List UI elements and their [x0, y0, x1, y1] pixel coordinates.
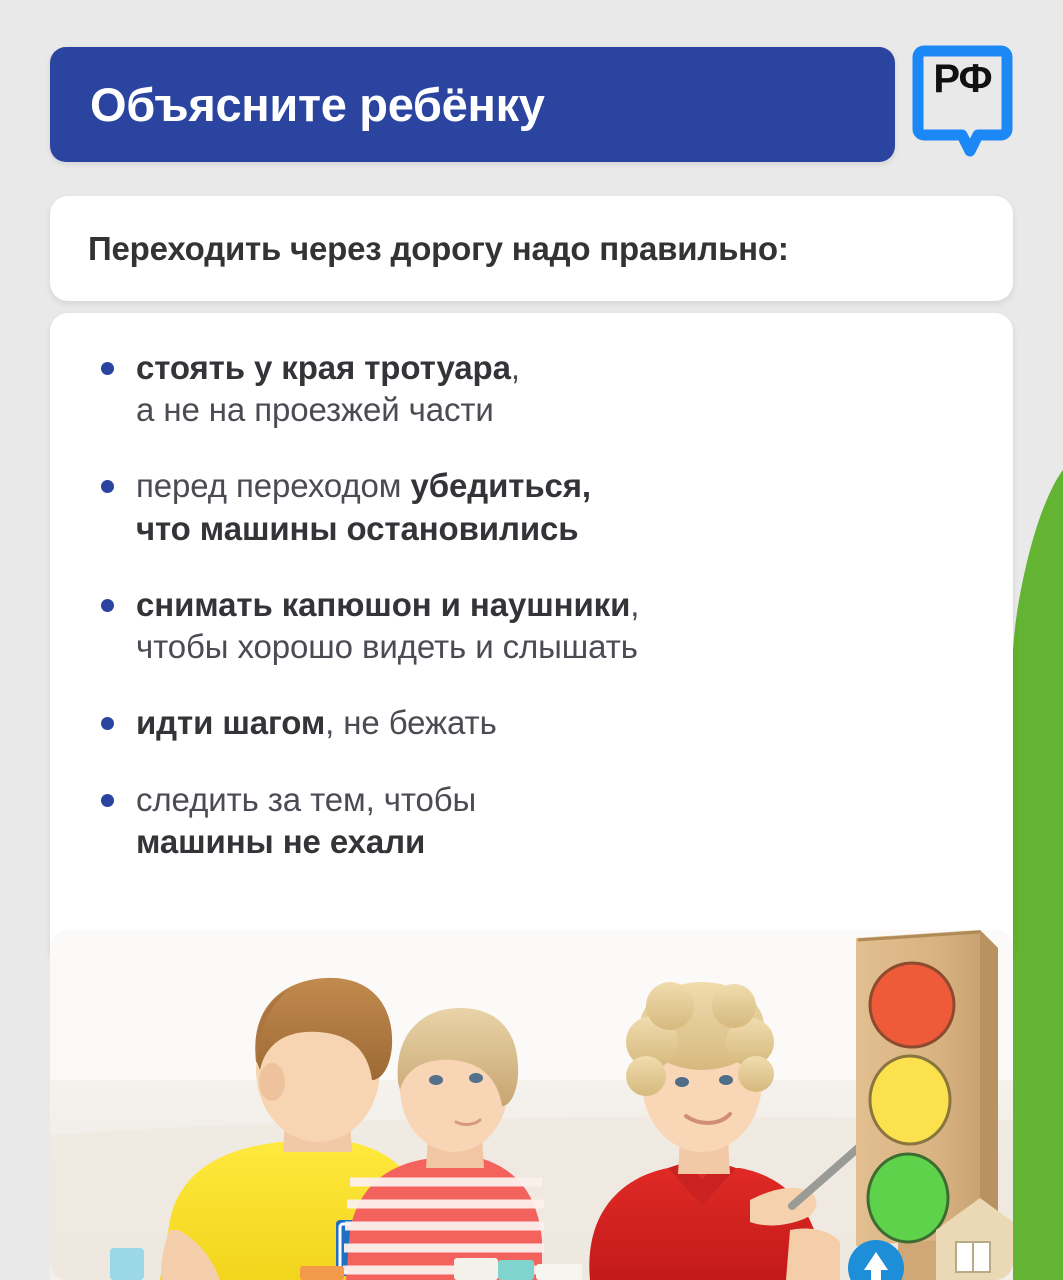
rule-1-rest: а не на проезжей части — [136, 391, 494, 428]
header-banner: Объясните ребёнку — [50, 47, 895, 162]
rule-3-bold: снимать капюшон и наушники — [136, 586, 630, 623]
rule-5-lead: следить за тем, чтобы — [136, 781, 476, 818]
bullet-dot-icon — [101, 362, 114, 375]
rules-list: стоять у края тротуара, а не на проезжей… — [88, 347, 975, 863]
bullet-dot-icon — [101, 717, 114, 730]
list-item: стоять у края тротуара, а не на проезжей… — [88, 347, 975, 431]
rule-3-comma: , — [630, 586, 639, 623]
rule-4-rest: не бежать — [343, 704, 496, 741]
subtitle-text: Переходить через дорогу надо правильно: — [88, 230, 789, 268]
rule-2-bold: убедиться, — [410, 467, 591, 504]
photo-children-traffic-light: P — [50, 930, 1013, 1280]
bullet-dot-icon — [101, 794, 114, 807]
rule-3-rest: чтобы хорошо видеть и слышать — [136, 628, 638, 665]
rule-2-lead: перед переходом — [136, 467, 410, 504]
rf-logo-text: РФ — [912, 59, 1013, 99]
rule-5-bold-rest: машины не ехали — [136, 823, 425, 860]
traffic-light-green — [868, 1154, 948, 1242]
list-item: следить за тем, чтобы машины не ехали — [88, 779, 975, 863]
rf-logo: РФ — [912, 45, 1013, 157]
traffic-light-yellow — [870, 1056, 950, 1144]
list-item: идти шагом, не бежать — [88, 702, 975, 744]
rule-1-bold: стоять у края тротуара — [136, 349, 511, 386]
rule-4-bold: идти шагом — [136, 704, 325, 741]
page-title: Объясните ребёнку — [90, 81, 545, 128]
rule-4-comma: , — [325, 704, 343, 741]
list-item: снимать капюшон и наушники, чтобы хорошо… — [88, 584, 975, 668]
list-item: перед переходом убедиться, что машины ос… — [88, 465, 975, 549]
bullet-dot-icon — [101, 599, 114, 612]
traffic-light-red — [870, 963, 954, 1047]
rule-2-bold-rest: что машины остановились — [136, 510, 578, 547]
subtitle-card: Переходить через дорогу надо правильно: — [50, 196, 1013, 301]
content-column: Объясните ребёнку РФ Переходить через до… — [50, 0, 1013, 1280]
rules-card: стоять у края тротуара, а не на проезжей… — [50, 313, 1013, 953]
green-accent-shape — [1011, 470, 1063, 1280]
infographic-screen: Объясните ребёнку РФ Переходить через до… — [0, 0, 1063, 1280]
rule-1-comma: , — [511, 349, 520, 386]
bullet-dot-icon — [101, 480, 114, 493]
